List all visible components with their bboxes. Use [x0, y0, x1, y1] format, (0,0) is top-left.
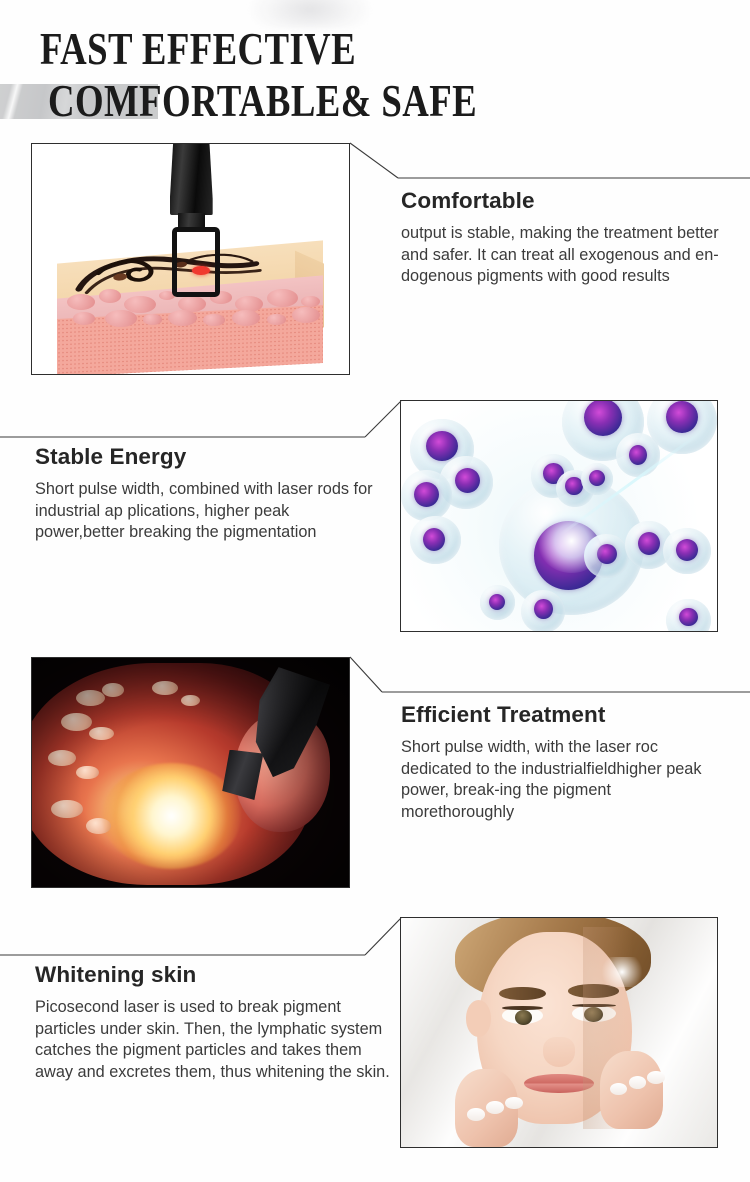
nail	[647, 1071, 664, 1084]
nail	[629, 1076, 646, 1089]
nucleus	[534, 599, 553, 620]
nucleus	[455, 468, 480, 493]
vessel	[168, 310, 197, 326]
vessel	[105, 310, 137, 327]
nose	[543, 1037, 575, 1067]
nail	[486, 1101, 503, 1114]
body-efficient-treatment: Short pulse width, with the laser roc de…	[401, 737, 726, 823]
face-scene	[401, 918, 717, 1147]
iris-left	[515, 1010, 532, 1025]
text-block-comfortable: Comfortable output is stable, making the…	[401, 188, 731, 288]
vessel	[267, 314, 286, 324]
nucleus	[414, 482, 439, 507]
photo-vignette	[32, 658, 349, 887]
nucleus	[666, 401, 698, 433]
lashes-left	[502, 1006, 543, 1010]
image-clinical-laser-treatment-photo	[31, 657, 350, 888]
nucleus	[423, 528, 445, 551]
body-stable-energy: Short pulse width, combined with laser r…	[35, 479, 380, 544]
nail	[467, 1108, 484, 1121]
image-pigment-cells-laser-beam	[400, 400, 718, 632]
heading-whitening-skin: Whitening skin	[35, 962, 400, 988]
connector-line-efficient-treatment	[350, 654, 750, 699]
clinical-scene	[32, 658, 349, 887]
sparkle-effect	[597, 957, 648, 987]
body-comfortable: output is stable, making the treatment b…	[401, 223, 731, 288]
cells-scene	[401, 401, 717, 631]
ear	[466, 1000, 491, 1037]
vessel	[232, 310, 261, 326]
nucleus	[589, 470, 605, 486]
body-whitening-skin: Picosecond laser is used to break pigmen…	[35, 997, 400, 1083]
image-skin-cross-section-laser-handpiece	[31, 143, 350, 375]
nucleus	[584, 400, 622, 436]
nail	[505, 1097, 522, 1110]
vessel	[99, 289, 121, 303]
heading-efficient-treatment: Efficient Treatment	[401, 702, 726, 728]
vessel	[67, 294, 96, 310]
text-block-whitening-skin: Whitening skin Picosecond laser is used …	[35, 962, 400, 1083]
nucleus	[638, 532, 660, 555]
nucleus	[426, 431, 458, 461]
text-block-efficient-treatment: Efficient Treatment Short pulse width, w…	[401, 702, 726, 823]
vessel	[73, 312, 95, 325]
nucleus	[565, 477, 582, 495]
heading-comfortable: Comfortable	[401, 188, 731, 214]
connector-line-stable-energy	[0, 396, 402, 444]
page-title-line-1: FAST EFFECTIVE	[40, 22, 356, 75]
image-woman-face-before-after	[400, 917, 718, 1148]
page-title-line-2: COMFORTABLE& SAFE	[48, 74, 477, 127]
text-block-stable-energy: Stable Energy Short pulse width, combine…	[35, 444, 380, 544]
connector-line-comfortable	[350, 140, 750, 185]
laser-handpiece-body	[170, 143, 213, 215]
vessel	[203, 314, 225, 326]
nucleus	[676, 539, 698, 561]
vessel	[143, 314, 162, 324]
page-header: FAST EFFECTIVE COMFORTABLE& SAFE	[0, 0, 750, 130]
laser-handpiece-tip	[172, 227, 220, 297]
connector-line-whitening-skin	[0, 913, 402, 961]
skin-diagram-scene	[32, 144, 349, 374]
laser-spot-indicator	[192, 266, 209, 275]
heading-stable-energy: Stable Energy	[35, 444, 380, 470]
